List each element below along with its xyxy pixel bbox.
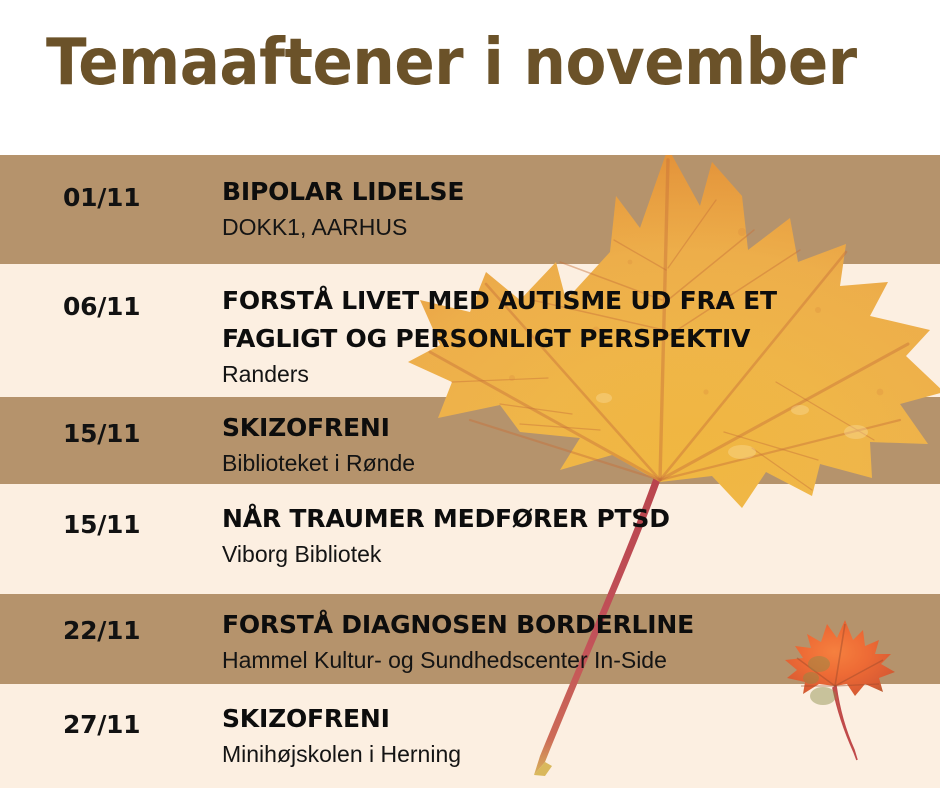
- title-band: Temaaftener i november: [0, 0, 940, 155]
- table-row: 27/11SKIZOFRENIMinihøjskolen i Herning: [0, 684, 940, 788]
- table-row: 15/11SKIZOFRENIBiblioteket i Rønde: [0, 397, 940, 484]
- event-venue: Viborg Bibliotek: [222, 539, 922, 569]
- event-title: SKIZOFRENI: [222, 700, 922, 738]
- event-date: 06/11: [63, 292, 140, 321]
- event-date: 15/11: [63, 419, 140, 448]
- event-title: FORSTÅ DIAGNOSEN BORDERLINE: [222, 606, 922, 644]
- event-details: SKIZOFRENIBiblioteket i Rønde: [222, 409, 922, 478]
- event-details: NÅR TRAUMER MEDFØRER PTSDViborg Bibliote…: [222, 500, 922, 569]
- schedule-list: 01/11BIPOLAR LIDELSEDOKK1, AARHUS06/11FO…: [0, 155, 940, 788]
- event-date: 01/11: [63, 183, 140, 212]
- event-details: FORSTÅ LIVET MED AUTISME UD FRA ET FAGLI…: [222, 282, 922, 389]
- event-details: BIPOLAR LIDELSEDOKK1, AARHUS: [222, 173, 922, 242]
- event-venue: Randers: [222, 359, 922, 389]
- poster-canvas: Temaaftener i november 01/11BIPOLAR LIDE…: [0, 0, 940, 788]
- event-details: SKIZOFRENIMinihøjskolen i Herning: [222, 700, 922, 769]
- event-venue: DOKK1, AARHUS: [222, 212, 922, 242]
- event-title: NÅR TRAUMER MEDFØRER PTSD: [222, 500, 922, 538]
- table-row: 01/11BIPOLAR LIDELSEDOKK1, AARHUS: [0, 155, 940, 264]
- event-details: FORSTÅ DIAGNOSEN BORDERLINEHammel Kultur…: [222, 606, 922, 675]
- event-date: 27/11: [63, 710, 140, 739]
- event-venue: Minihøjskolen i Herning: [222, 739, 922, 769]
- table-row: 22/11FORSTÅ DIAGNOSEN BORDERLINEHammel K…: [0, 594, 940, 684]
- event-title: SKIZOFRENI: [222, 409, 922, 447]
- event-title: BIPOLAR LIDELSE: [222, 173, 922, 211]
- event-venue: Hammel Kultur- og Sundhedscenter In-Side: [222, 645, 922, 675]
- table-row: 06/11FORSTÅ LIVET MED AUTISME UD FRA ET …: [0, 264, 940, 397]
- page-title: Temaaftener i november: [46, 26, 857, 100]
- event-date: 15/11: [63, 510, 140, 539]
- event-date: 22/11: [63, 616, 140, 645]
- table-row: 15/11NÅR TRAUMER MEDFØRER PTSDViborg Bib…: [0, 484, 940, 594]
- event-venue: Biblioteket i Rønde: [222, 448, 922, 478]
- event-title: FORSTÅ LIVET MED AUTISME UD FRA ET FAGLI…: [222, 282, 922, 358]
